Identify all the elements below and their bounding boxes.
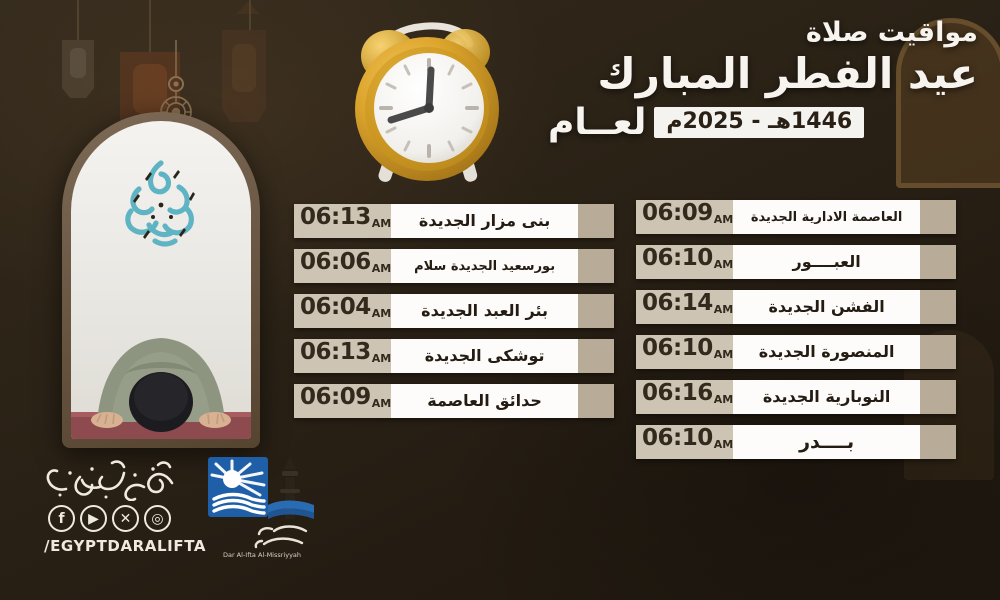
prayer-time-value: 06:04 <box>300 296 371 319</box>
row-tail <box>578 384 614 418</box>
social-handle[interactable]: /EGYPTDARALIFTA <box>44 537 206 555</box>
prayer-time-meridiem: AM <box>372 262 391 275</box>
prayer-time-meridiem: AM <box>372 217 391 230</box>
prayer-time-meridiem: AM <box>714 303 733 316</box>
prayer-time-meridiem: AM <box>714 258 733 271</box>
youtube-icon[interactable]: ▶ <box>80 505 107 532</box>
row-tail <box>920 380 956 414</box>
prayer-time-cell: 06:16AM <box>636 380 733 414</box>
prayer-time-row: 06:06AMبورسعيد الجديدة سلام <box>294 249 614 283</box>
row-tail <box>578 339 614 373</box>
prayer-time-row: 06:10AMبــــدر <box>636 425 956 459</box>
city-name: بورسعيد الجديدة سلام <box>414 260 555 273</box>
prayer-time-row: 06:13AMتوشكى الجديدة <box>294 339 614 373</box>
prayer-time-cell: 06:04AM <box>294 294 391 328</box>
prayer-time-row: 06:09AMحدائق العاصمة <box>294 384 614 418</box>
prayer-time-row: 06:13AMبنى مزار الجديدة <box>294 204 614 238</box>
prayer-time-value: 06:06 <box>300 251 371 274</box>
prayer-time-cell: 06:14AM <box>636 290 733 324</box>
headline-block: مواقيت صلاة عيد الفطر المبارك لعــام 144… <box>548 18 978 143</box>
prayer-time-meridiem: AM <box>372 397 391 410</box>
row-tail <box>578 249 614 283</box>
prayer-time-meridiem: AM <box>714 438 733 451</box>
row-tail <box>920 290 956 324</box>
prayer-time-meridiem: AM <box>714 393 733 406</box>
headline-line-1: مواقيت صلاة <box>548 18 978 48</box>
city-name-cell: بــــدر <box>733 425 920 459</box>
instagram-icon[interactable]: ◎ <box>144 505 171 532</box>
x-twitter-icon-glyph: ✕ <box>120 512 132 526</box>
city-name-cell: توشكى الجديدة <box>391 339 578 373</box>
city-name: بنى مزار الجديدة <box>419 213 550 229</box>
youtube-icon-glyph: ▶ <box>88 512 99 526</box>
city-name: الفشن الجديدة <box>768 299 884 315</box>
prayer-time-meridiem: AM <box>372 307 391 320</box>
city-name: العبــــور <box>793 254 861 270</box>
prayer-times-column-left: 06:13AMبنى مزار الجديدة06:06AMبورسعيد ال… <box>294 204 614 429</box>
prayer-time-cell: 06:09AM <box>294 384 391 418</box>
prayer-time-value: 06:10 <box>642 427 713 450</box>
city-name: المنصورة الجديدة <box>759 344 895 360</box>
city-name-cell: العاصمة الادارية الجديدة <box>733 200 920 234</box>
city-name-cell: بورسعيد الجديدة سلام <box>391 249 578 283</box>
row-tail <box>920 425 956 459</box>
eid-calligraphy <box>109 155 213 251</box>
prayer-time-meridiem: AM <box>714 348 733 361</box>
prayer-time-row: 06:10AMالمنصورة الجديدة <box>636 335 956 369</box>
headline-year-row: لعــام 1446هـ - 2025م <box>548 102 978 143</box>
prayer-time-row: 06:16AMالنوبارية الجديدة <box>636 380 956 414</box>
prayer-time-row: 06:04AMبئر العبد الجديدة <box>294 294 614 328</box>
row-tail <box>578 204 614 238</box>
row-tail <box>920 335 956 369</box>
prayer-time-value: 06:10 <box>642 337 713 360</box>
prayer-time-meridiem: AM <box>714 213 733 226</box>
city-name: العاصمة الادارية الجديدة <box>751 211 903 224</box>
city-name: النوبارية الجديدة <box>763 389 891 405</box>
prayer-time-cell: 06:09AM <box>636 200 733 234</box>
prayer-time-value: 06:09 <box>642 202 713 225</box>
row-tail <box>920 245 956 279</box>
city-name-cell: بنى مزار الجديدة <box>391 204 578 238</box>
facebook-icon[interactable]: f <box>48 505 75 532</box>
city-name: بــــدر <box>799 433 854 452</box>
greeting-calligraphy <box>40 457 185 501</box>
year-badge: 1446هـ - 2025م <box>654 107 864 138</box>
poster-canvas: مواقيت صلاة عيد الفطر المبارك لعــام 144… <box>0 0 1000 600</box>
logo-latin-text: Dar Al-Ifta Al-Missriyyah <box>223 551 301 559</box>
prayer-time-cell: 06:13AM <box>294 204 391 238</box>
city-name-cell: بئر العبد الجديدة <box>391 294 578 328</box>
row-tail <box>920 200 956 234</box>
city-name: بئر العبد الجديدة <box>421 303 548 319</box>
city-name: حدائق العاصمة <box>427 393 542 409</box>
instagram-icon-glyph: ◎ <box>151 512 163 526</box>
row-tail <box>578 294 614 328</box>
branding-block: f▶✕◎ /EGYPTDARALIFTA <box>34 455 284 565</box>
prayer-time-row: 06:14AMالفشن الجديدة <box>636 290 956 324</box>
prayer-time-cell: 06:10AM <box>636 425 733 459</box>
prayer-time-meridiem: AM <box>372 352 391 365</box>
prayer-time-cell: 06:06AM <box>294 249 391 283</box>
city-name-cell: العبــــور <box>733 245 920 279</box>
prayer-time-value: 06:16 <box>642 382 713 405</box>
prayer-time-row: 06:09AMالعاصمة الادارية الجديدة <box>636 200 956 234</box>
x-twitter-icon[interactable]: ✕ <box>112 505 139 532</box>
prayer-time-value: 06:14 <box>642 292 713 315</box>
prayer-times-column-right: 06:09AMالعاصمة الادارية الجديدة06:10AMال… <box>636 200 956 470</box>
headline-line-2: عيد الفطر المبارك <box>548 50 978 98</box>
prayer-time-value: 06:13 <box>300 206 371 229</box>
prayer-time-value: 06:09 <box>300 386 371 409</box>
city-name: توشكى الجديدة <box>425 348 545 364</box>
prayer-time-cell: 06:10AM <box>636 335 733 369</box>
city-name-cell: المنصورة الجديدة <box>733 335 920 369</box>
city-name-cell: النوبارية الجديدة <box>733 380 920 414</box>
alarm-clock-icon <box>334 8 524 198</box>
city-name-cell: حدائق العاصمة <box>391 384 578 418</box>
prayer-time-value: 06:13 <box>300 341 371 364</box>
facebook-icon-glyph: f <box>58 512 64 526</box>
headline-liam-word: لعــام <box>548 102 646 143</box>
city-name-cell: الفشن الجديدة <box>733 290 920 324</box>
dar-al-ifta-logo: Dar Al-Ifta Al-Missriyyah <box>206 455 318 560</box>
prayer-time-cell: 06:10AM <box>636 245 733 279</box>
prayer-time-value: 06:10 <box>642 247 713 270</box>
prayer-time-cell: 06:13AM <box>294 339 391 373</box>
prayer-time-row: 06:10AMالعبــــور <box>636 245 956 279</box>
social-icons-row[interactable]: f▶✕◎ <box>48 505 171 532</box>
